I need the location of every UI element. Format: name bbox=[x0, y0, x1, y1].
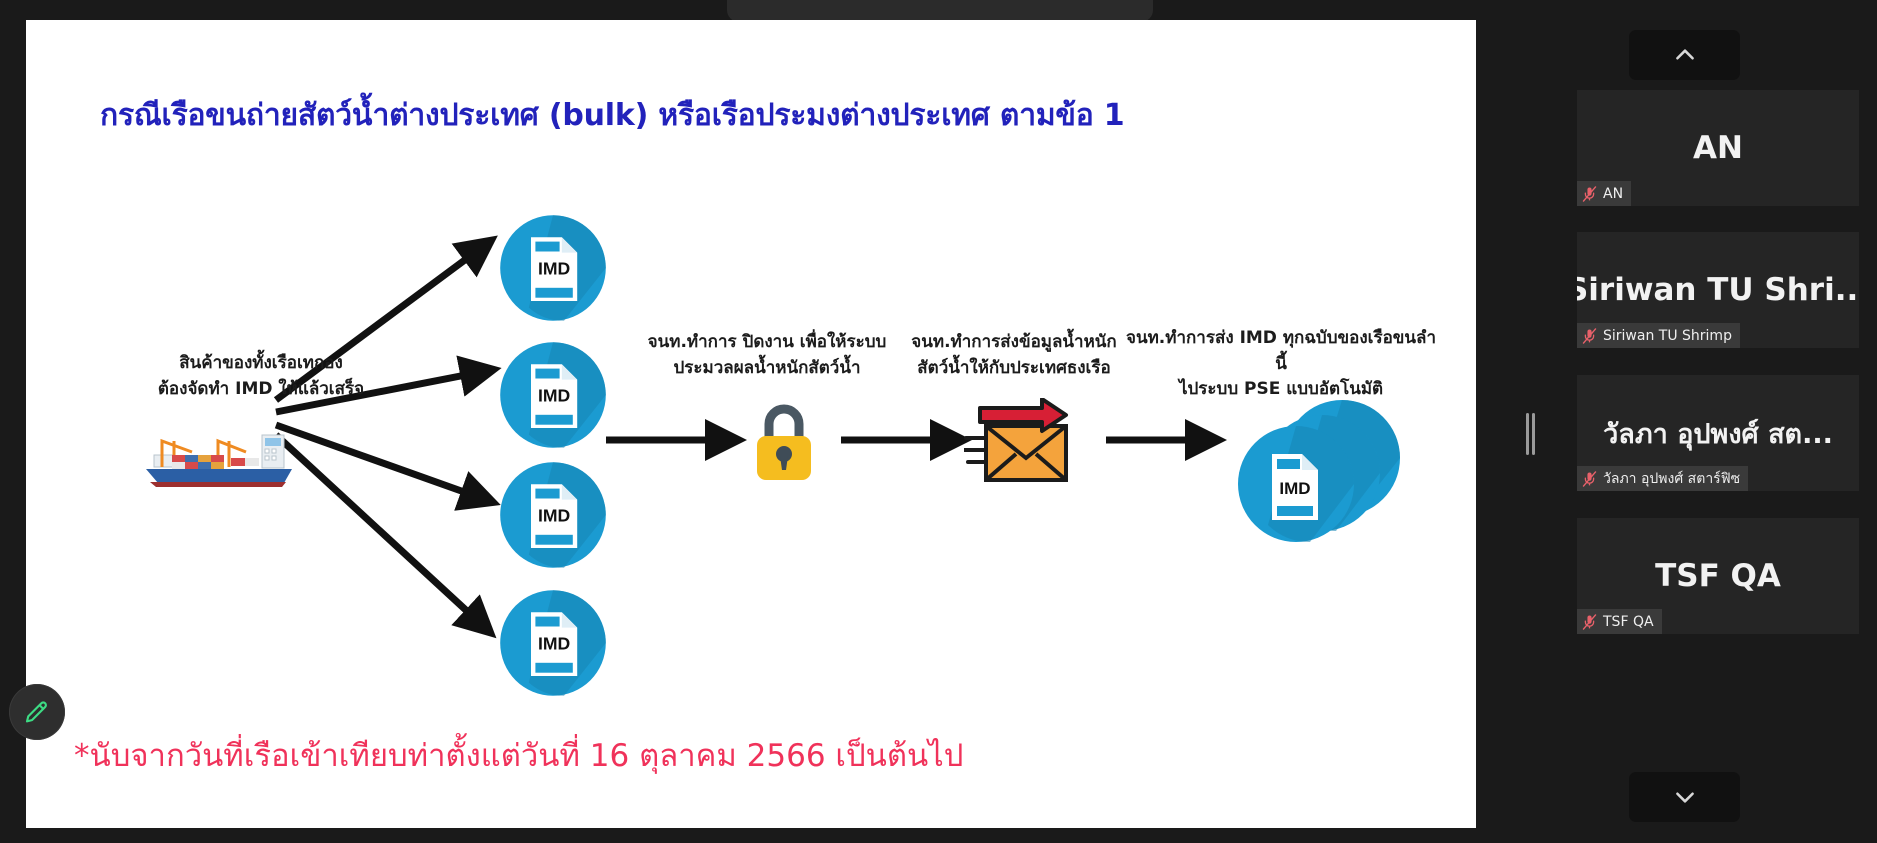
pen-icon bbox=[22, 697, 52, 727]
page-title: กรณีเรือขนถ่ายสัตว์น้ำต่างประเทศ (bulk) … bbox=[100, 92, 1400, 139]
participant-namebar: AN bbox=[1577, 181, 1631, 206]
svg-text:IMD: IMD bbox=[538, 259, 570, 279]
microphone-muted-icon bbox=[1582, 186, 1597, 202]
participants-sidebar: AN AN Siriwan TU Shri... bbox=[1572, 0, 1863, 843]
participant-tile[interactable]: Siriwan TU Shri... Siriwan TU Shrimp bbox=[1577, 232, 1859, 348]
participant-namebar: Siriwan TU Shrimp bbox=[1577, 323, 1740, 348]
microphone-muted-icon bbox=[1582, 471, 1597, 487]
top-toolbar-pill[interactable] bbox=[727, 0, 1153, 22]
annotate-button[interactable] bbox=[9, 684, 65, 740]
participant-name: Siriwan TU Shrimp bbox=[1603, 328, 1732, 344]
footnote: *นับจากวันที่เรือเข้าเทียบท่าตั้งแต่วันท… bbox=[74, 730, 1274, 780]
participant-tile[interactable]: TSF QA TSF QA bbox=[1577, 518, 1859, 634]
scroll-up-button[interactable] bbox=[1629, 30, 1740, 80]
padlock-icon bbox=[749, 398, 819, 488]
close-job-caption-line1: จนท.ทำการ ปิดงาน เพื่อให้ระบบ bbox=[642, 330, 892, 356]
left-caption-line2: ต้องจัดทำ IMD ให้แล้วเสร็จ bbox=[131, 376, 391, 402]
panel-resize-handle[interactable] bbox=[1526, 413, 1536, 455]
microphone-muted-icon bbox=[1582, 328, 1597, 344]
send-weight-caption-line1: จนท.ทำการส่งข้อมูลน้ำหนัก bbox=[894, 330, 1134, 356]
send-weight-caption-line2: สัตว์น้ำให้กับประเทศธงเรือ bbox=[894, 356, 1134, 382]
close-job-caption: จนท.ทำการ ปิดงาน เพื่อให้ระบบ ประมวลผลน้… bbox=[642, 330, 892, 381]
cargo-ship-icon bbox=[134, 425, 304, 490]
pse-caption-line1: จนท.ทำการส่ง IMD ทุกฉบับของเรือขนลำนี้ bbox=[1126, 326, 1436, 377]
pse-caption-line2: ไประบบ PSE แบบอัตโนมัติ bbox=[1126, 377, 1436, 403]
microphone-muted-icon bbox=[1582, 614, 1597, 630]
svg-text:IMD: IMD bbox=[538, 506, 570, 526]
participant-tile[interactable]: AN AN bbox=[1577, 90, 1859, 206]
imd-document-stack-icon: IMD bbox=[1224, 388, 1409, 553]
send-envelope-icon bbox=[964, 398, 1089, 488]
imd-document-icon: IMD bbox=[498, 588, 608, 698]
participant-name: AN bbox=[1603, 186, 1623, 202]
svg-text:IMD: IMD bbox=[538, 634, 570, 654]
imd-document-icon: IMD bbox=[498, 460, 608, 570]
svg-text:IMD: IMD bbox=[538, 386, 570, 406]
pse-caption: จนท.ทำการส่ง IMD ทุกฉบับของเรือขนลำนี้ ไ… bbox=[1126, 326, 1436, 403]
close-job-caption-line2: ประมวลผลน้ำหนักสัตว์น้ำ bbox=[642, 356, 892, 382]
zoom-meeting-window: กรณีเรือขนถ่ายสัตว์น้ำต่างประเทศ (bulk) … bbox=[0, 0, 1877, 843]
imd-document-icon: IMD bbox=[498, 213, 608, 323]
chevron-up-icon bbox=[1672, 42, 1698, 68]
left-caption: สินค้าของทั้งเรือเทกอง ต้องจัดทำ IMD ให้… bbox=[131, 350, 391, 403]
participant-namebar: TSF QA bbox=[1577, 609, 1662, 634]
participant-name: วัลภา อุปพงศ์ สตาร์ฟิซ bbox=[1603, 468, 1740, 490]
left-caption-line1: สินค้าของทั้งเรือเทกอง bbox=[131, 350, 391, 376]
send-weight-caption: จนท.ทำการส่งข้อมูลน้ำหนัก สัตว์น้ำให้กับ… bbox=[894, 330, 1134, 381]
scroll-down-button[interactable] bbox=[1629, 772, 1740, 822]
imd-document-icon: IMD bbox=[498, 340, 608, 450]
participant-name: TSF QA bbox=[1603, 614, 1654, 630]
chevron-down-icon bbox=[1672, 784, 1698, 810]
shared-screen-slide: กรณีเรือขนถ่ายสัตว์น้ำต่างประเทศ (bulk) … bbox=[26, 20, 1476, 828]
participant-namebar: วัลภา อุปพงศ์ สตาร์ฟิซ bbox=[1577, 466, 1748, 491]
participant-tile[interactable]: วัลภา อุปพงศ์ สต... วัลภา อุปพงศ์ สตาร์ฟ… bbox=[1577, 375, 1859, 491]
svg-text:IMD: IMD bbox=[1279, 479, 1310, 498]
